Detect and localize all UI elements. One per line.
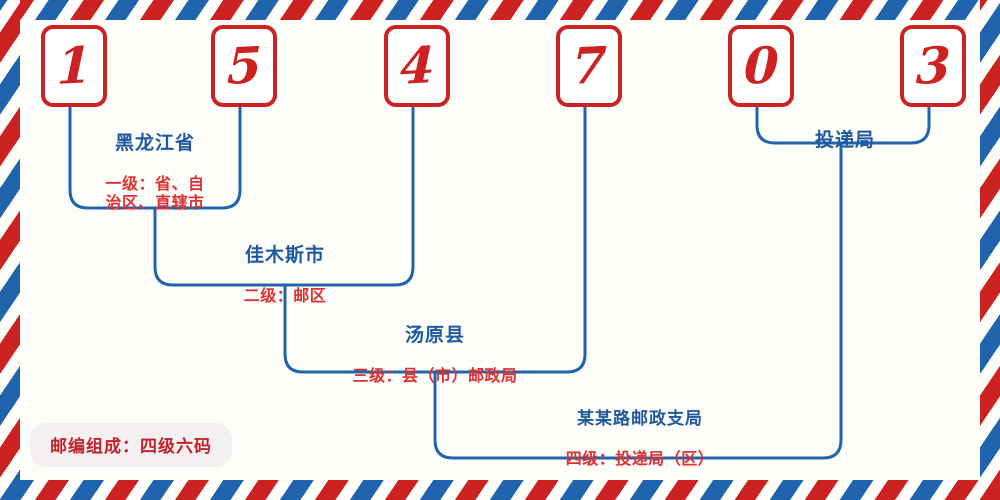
postcode-digit-1[interactable]: 1 [41, 25, 107, 107]
digit-glyph: 4 [399, 40, 435, 92]
digit-glyph: 5 [226, 40, 262, 92]
digit-glyph: 1 [56, 40, 92, 92]
postcode-digit-4[interactable]: 7 [556, 25, 622, 107]
digit-glyph: 0 [743, 40, 779, 92]
level-3-subtitle: 三级：县（市）邮政局 [310, 367, 560, 386]
digit-glyph: 3 [915, 40, 951, 92]
level-4-title: 某某路邮政支局 [500, 409, 780, 429]
postcode-digit-2[interactable]: 5 [211, 25, 277, 107]
level-1-title: 黑龙江省 [80, 132, 230, 154]
digit-glyph: 7 [571, 40, 607, 92]
level-3-title: 汤原县 [310, 324, 560, 346]
postcode-digit-5[interactable]: 0 [728, 25, 794, 107]
postcode-digit-3[interactable]: 4 [384, 25, 450, 107]
level-1-subtitle: 一级：省、自 治区、直辖市 [80, 175, 230, 213]
level-1-label: 黑龙江省 一级：省、自 治区、直辖市 [80, 113, 230, 232]
level-2-title: 佳木斯市 [185, 244, 385, 266]
legend-badge: 邮编组成：四级六码 [30, 423, 232, 467]
delivery-office-label: 投递局 [790, 110, 900, 170]
delivery-office-title: 投递局 [790, 129, 900, 151]
legend-text: 邮编组成：四级六码 [50, 437, 212, 457]
level-4-subtitle: 四级：投递局（区） [500, 450, 780, 469]
level-2-subtitle: 二级：邮区 [185, 287, 385, 306]
postcode-diagram-canvas: 1 5 4 7 0 3 黑龙江省 一级：省、自 治区、直辖市 佳木斯市 二级：邮… [0, 0, 1000, 500]
postcode-digit-6[interactable]: 3 [900, 25, 966, 107]
level-4-label: 某某路邮政支局 四级：投递局（区） [500, 390, 780, 488]
